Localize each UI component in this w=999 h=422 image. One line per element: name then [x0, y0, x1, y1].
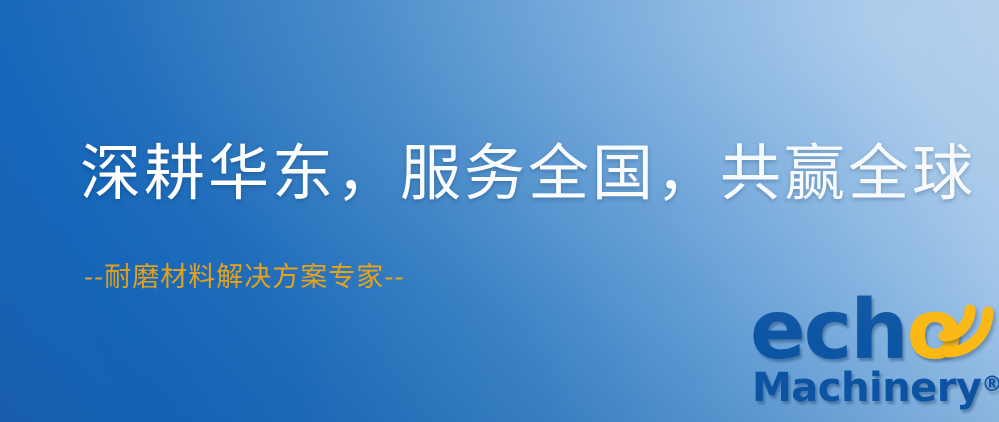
- banner-subtitle: --耐磨材料解决方案专家--: [84, 264, 405, 291]
- logo-mark: echo Machinery®: [744, 292, 994, 420]
- registered-trademark-icon: ®: [982, 372, 999, 396]
- company-logo[interactable]: echo Machinery®: [744, 292, 994, 420]
- logo-tagline-text: Machinery: [752, 365, 982, 411]
- signal-wave-icon: [926, 292, 996, 358]
- logo-wordmark-prefix: ech: [750, 283, 907, 378]
- promotional-banner: 深耕华东，服务全国，共赢全球 --耐磨材料解决方案专家-- echo Machi…: [0, 0, 999, 422]
- logo-tagline: Machinery®: [752, 368, 999, 408]
- banner-headline: 深耕华东，服务全国，共赢全球: [80, 143, 976, 204]
